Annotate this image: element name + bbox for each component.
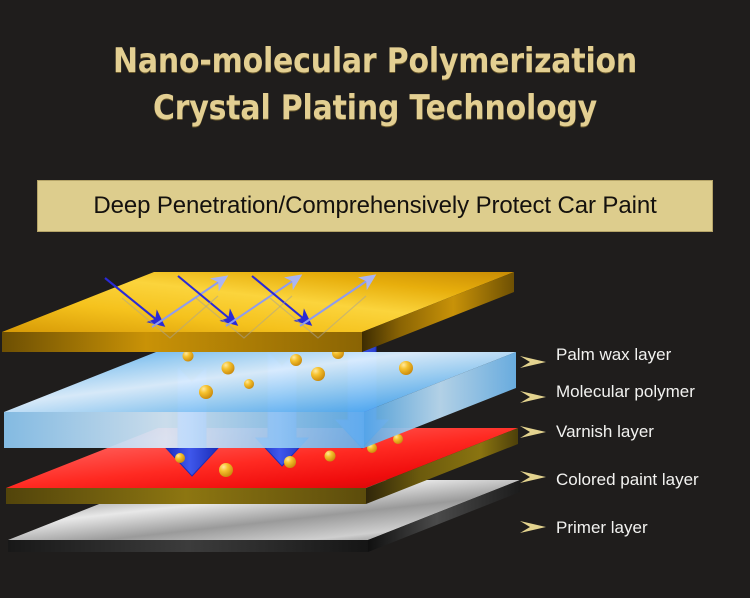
title-line-1: Nano-molecular Polymerization — [45, 38, 705, 85]
layer-label-colored-paint: Colored paint layer — [556, 471, 699, 488]
layer-label-molecular-polymer: Molecular polymer — [556, 383, 695, 400]
subtitle-banner-text: Deep Penetration/Comprehensively Protect… — [93, 192, 656, 220]
layer-slab-palm-wax — [2, 272, 514, 352]
page-title: Nano-molecular Polymerization Crystal Pl… — [0, 38, 750, 132]
subtitle-banner: Deep Penetration/Comprehensively Protect… — [37, 180, 713, 232]
layer-label-varnish: Varnish layer — [556, 423, 654, 440]
layer-label-palm-wax: Palm wax layer — [556, 346, 671, 363]
layer-label-primer: Primer layer — [556, 519, 648, 536]
poster-canvas: Nano-molecular Polymerization Crystal Pl… — [0, 0, 750, 598]
title-line-2: Crystal Plating Technology — [45, 85, 705, 132]
